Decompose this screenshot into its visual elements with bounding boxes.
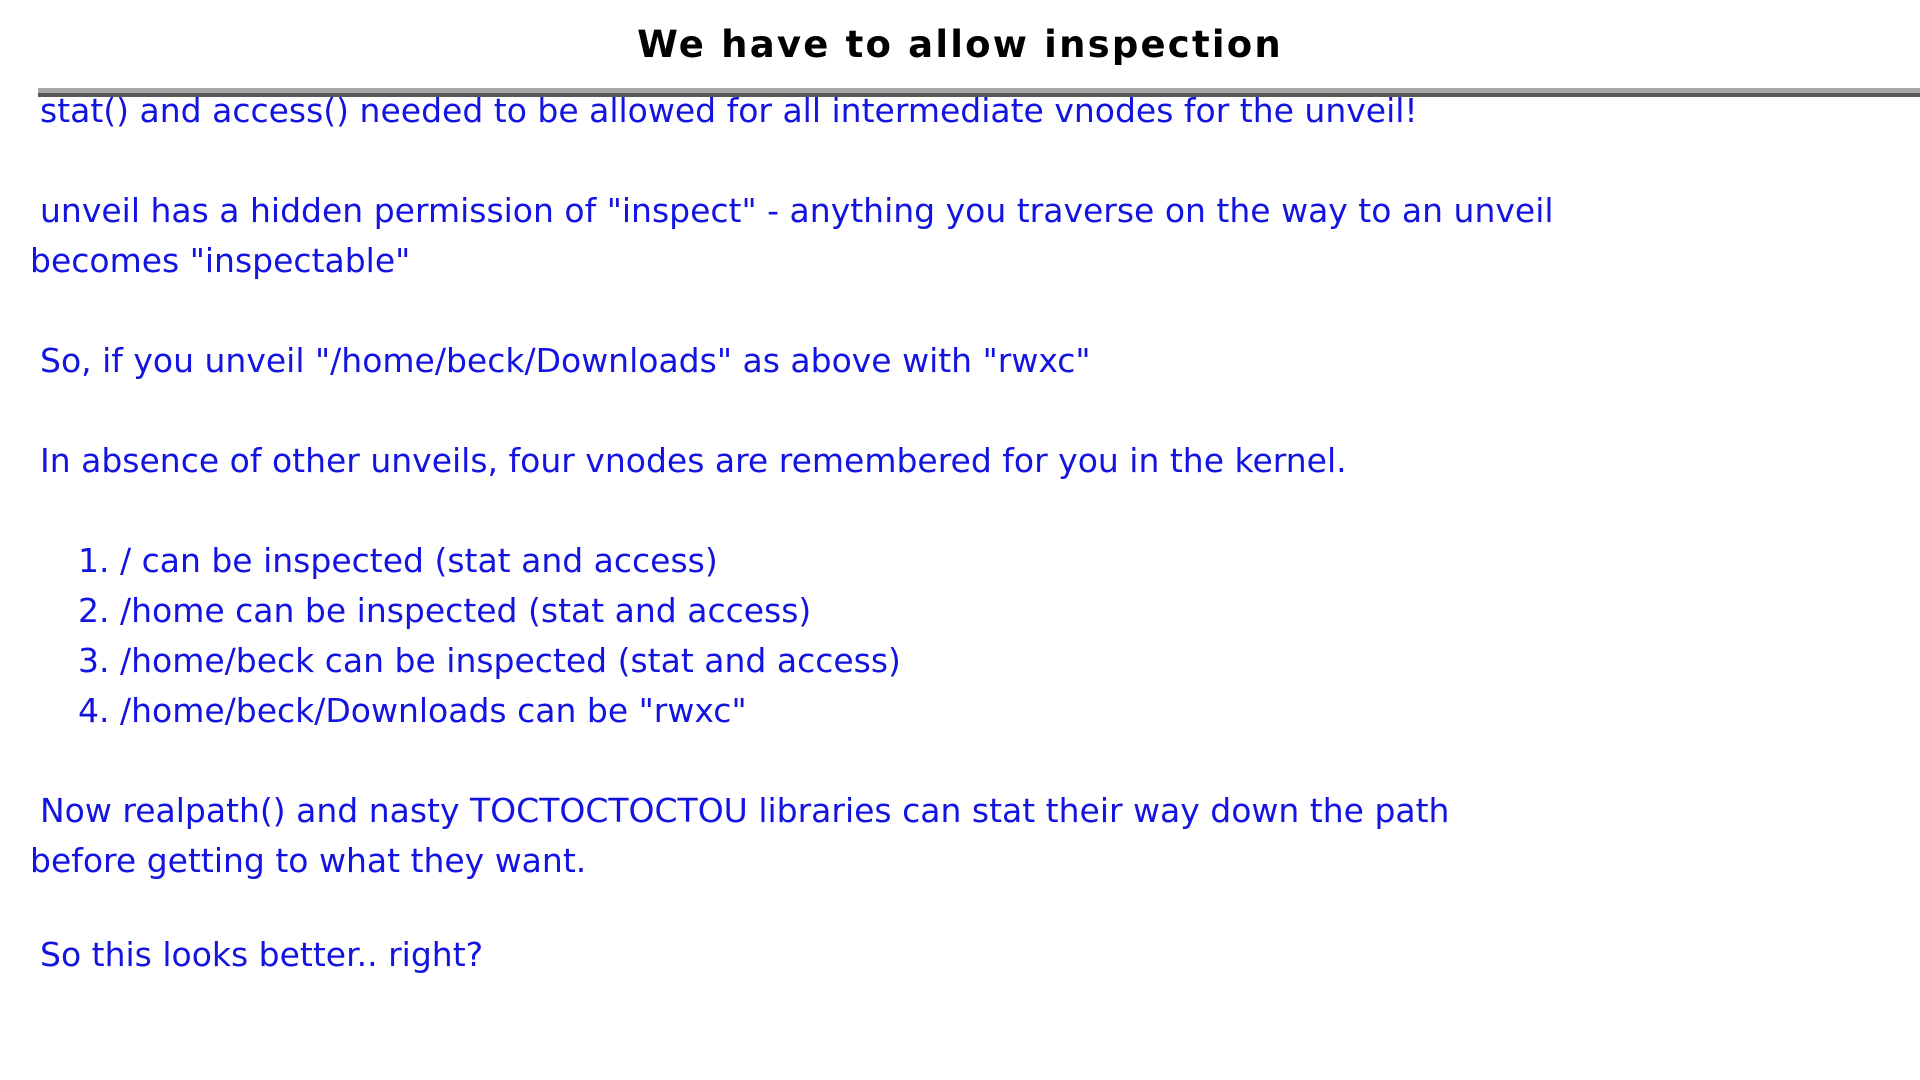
spacer: [30, 736, 1892, 786]
spacer: [30, 386, 1892, 436]
slide-canvas: We have to allow inspection stat() and a…: [0, 0, 1920, 1080]
list-item: 3. /home/beck can be inspected (stat and…: [30, 636, 1892, 686]
paragraph-looks-better: So this looks better.. right?: [30, 930, 1892, 980]
paragraph-realpath-line2: before getting to what they want.: [30, 836, 1892, 886]
paragraph-hidden-inspect-line2: becomes "inspectable": [30, 236, 1892, 286]
spacer: [30, 886, 1892, 930]
paragraph-hidden-inspect-line1: unveil has a hidden permission of "inspe…: [30, 186, 1892, 236]
paragraph-four-vnodes: In absence of other unveils, four vnodes…: [30, 436, 1892, 486]
spacer: [30, 286, 1892, 336]
list-item: 2. /home can be inspected (stat and acce…: [30, 586, 1892, 636]
paragraph-stat-access: stat() and access() needed to be allowed…: [30, 86, 1892, 136]
vnode-list: 1. / can be inspected (stat and access) …: [30, 536, 1892, 736]
list-item: 4. /home/beck/Downloads can be "rwxc": [30, 686, 1892, 736]
page-title: We have to allow inspection: [0, 22, 1920, 68]
list-item: 1. / can be inspected (stat and access): [30, 536, 1892, 586]
spacer: [30, 136, 1892, 186]
paragraph-realpath-line1: Now realpath() and nasty TOCTOCTOCTOU li…: [30, 786, 1892, 836]
slide-body: stat() and access() needed to be allowed…: [0, 86, 1920, 980]
paragraph-unveil-downloads: So, if you unveil "/home/beck/Downloads"…: [30, 336, 1892, 386]
spacer: [30, 486, 1892, 536]
